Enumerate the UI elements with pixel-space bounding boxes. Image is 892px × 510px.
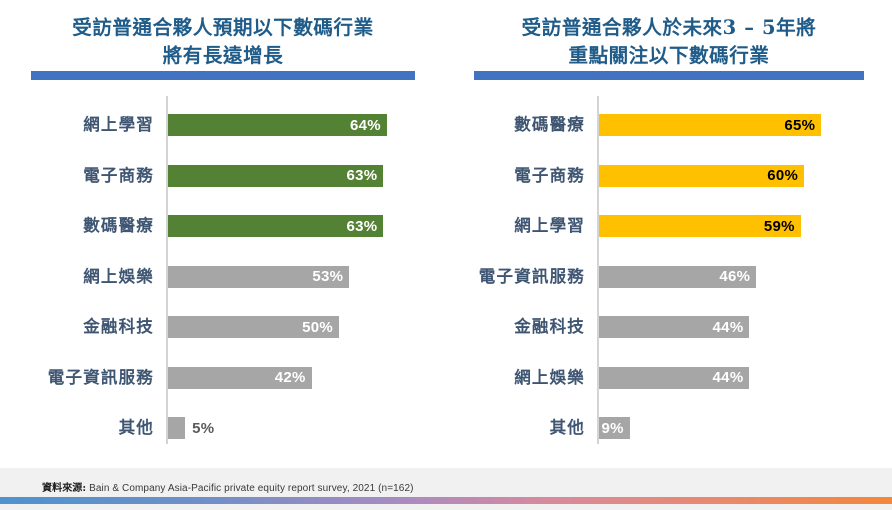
bar-category-label: 網上娛樂 xyxy=(446,359,585,397)
bar-category-label: 電子資訊服務 xyxy=(446,258,585,296)
bar-row: 網上學習59% xyxy=(446,207,892,245)
bar-category-label: 數碼醫療 xyxy=(0,207,154,245)
bar-category-label: 網上學習 xyxy=(446,207,585,245)
bar-category-label: 電子資訊服務 xyxy=(0,359,154,397)
bar[interactable]: 9% xyxy=(599,417,630,439)
bar-row: 網上學習64% xyxy=(0,106,446,144)
bar-row: 電子商務63% xyxy=(0,157,446,195)
bar-value-label: 46% xyxy=(719,269,750,284)
bar[interactable]: 5% xyxy=(168,417,185,439)
bar[interactable]: 63% xyxy=(168,165,383,187)
bar-track: 5% xyxy=(168,417,185,439)
bar-category-label: 數碼醫療 xyxy=(446,106,585,144)
bar-row: 其他9% xyxy=(446,409,892,447)
bar-track: 65% xyxy=(599,114,821,136)
bar[interactable]: 50% xyxy=(168,316,339,338)
bar-track: 60% xyxy=(599,165,804,187)
bar-track: 59% xyxy=(599,215,801,237)
plot-area-left: 網上學習64%電子商務63%數碼醫療63%網上娛樂53%金融科技50%電子資訊服… xyxy=(0,96,446,448)
bar-value-label: 63% xyxy=(347,168,378,183)
bar-row: 金融科技44% xyxy=(446,308,892,346)
bar-value-label: 50% xyxy=(302,320,333,335)
bar-category-label: 電子商務 xyxy=(0,157,154,195)
bar-track: 44% xyxy=(599,316,749,338)
bar[interactable]: 44% xyxy=(599,367,749,389)
bar-row: 網上娛樂53% xyxy=(0,258,446,296)
bar-category-label: 其他 xyxy=(0,409,154,447)
bar-row: 其他5% xyxy=(0,409,446,447)
chart-title-left: 受訪普通合夥人預期以下數碼行業 將有長遠增長 xyxy=(18,14,428,69)
bar-value-label: 42% xyxy=(275,370,306,385)
bar[interactable]: 60% xyxy=(599,165,804,187)
chart-panel-right: 受訪普通合夥人於未來3 – 5年將 重點關注以下數碼行業 數碼醫療65%電子商務… xyxy=(446,0,892,468)
bar-category-label: 網上娛樂 xyxy=(0,258,154,296)
footer-accent-gradient xyxy=(0,497,892,504)
bar[interactable]: 63% xyxy=(168,215,383,237)
slide-root: 受訪普通合夥人預期以下數碼行業 將有長遠增長 網上學習64%電子商務63%數碼醫… xyxy=(0,0,892,510)
bar-row: 金融科技50% xyxy=(0,308,446,346)
bar-row: 數碼醫療63% xyxy=(0,207,446,245)
source-note: 資料來源: Bain & Company Asia-Pacific privat… xyxy=(42,479,414,494)
bar[interactable]: 65% xyxy=(599,114,821,136)
bar[interactable]: 46% xyxy=(599,266,756,288)
bar-track: 64% xyxy=(168,114,387,136)
bar-track: 9% xyxy=(599,417,630,439)
source-label: 資料來源: xyxy=(42,483,86,494)
bar-row: 網上娛樂44% xyxy=(446,359,892,397)
plot-area-right: 數碼醫療65%電子商務60%網上學習59%電子資訊服務46%金融科技44%網上娛… xyxy=(446,96,892,448)
bar-category-label: 其他 xyxy=(446,409,585,447)
title-underline-right xyxy=(474,71,864,80)
bar[interactable]: 59% xyxy=(599,215,801,237)
source-text: Bain & Company Asia-Pacific private equi… xyxy=(86,483,413,494)
bar-category-label: 金融科技 xyxy=(0,308,154,346)
bar-value-label: 60% xyxy=(767,168,798,183)
bar-track: 53% xyxy=(168,266,349,288)
bar-category-label: 電子商務 xyxy=(446,157,585,195)
bar-track: 63% xyxy=(168,215,383,237)
title-underline-left xyxy=(31,71,415,80)
bar-value-label: 44% xyxy=(713,320,744,335)
bar-category-label: 網上學習 xyxy=(0,106,154,144)
bar-value-label: 64% xyxy=(350,118,381,133)
bar-value-label: 44% xyxy=(713,370,744,385)
bar-value-label: 5% xyxy=(192,421,214,436)
bar-category-label: 金融科技 xyxy=(446,308,585,346)
bar-track: 50% xyxy=(168,316,339,338)
bar-row: 電子商務60% xyxy=(446,157,892,195)
chart-title-right: 受訪普通合夥人於未來3 – 5年將 重點關注以下數碼行業 xyxy=(464,14,874,69)
bar-track: 63% xyxy=(168,165,383,187)
bar-value-label: 59% xyxy=(764,219,795,234)
bar[interactable]: 64% xyxy=(168,114,387,136)
chart-panel-left: 受訪普通合夥人預期以下數碼行業 將有長遠增長 網上學習64%電子商務63%數碼醫… xyxy=(0,0,446,468)
bar-row: 電子資訊服務46% xyxy=(446,258,892,296)
bar-track: 46% xyxy=(599,266,756,288)
bar[interactable]: 53% xyxy=(168,266,349,288)
bar-value-label: 53% xyxy=(312,269,343,284)
bar-value-label: 63% xyxy=(347,219,378,234)
bar-row: 數碼醫療65% xyxy=(446,106,892,144)
bar[interactable]: 44% xyxy=(599,316,749,338)
bar-row: 電子資訊服務42% xyxy=(0,359,446,397)
bar[interactable]: 42% xyxy=(168,367,312,389)
bar-value-label: 9% xyxy=(601,421,623,436)
bar-track: 42% xyxy=(168,367,312,389)
bar-value-label: 65% xyxy=(784,118,815,133)
bar-track: 44% xyxy=(599,367,749,389)
